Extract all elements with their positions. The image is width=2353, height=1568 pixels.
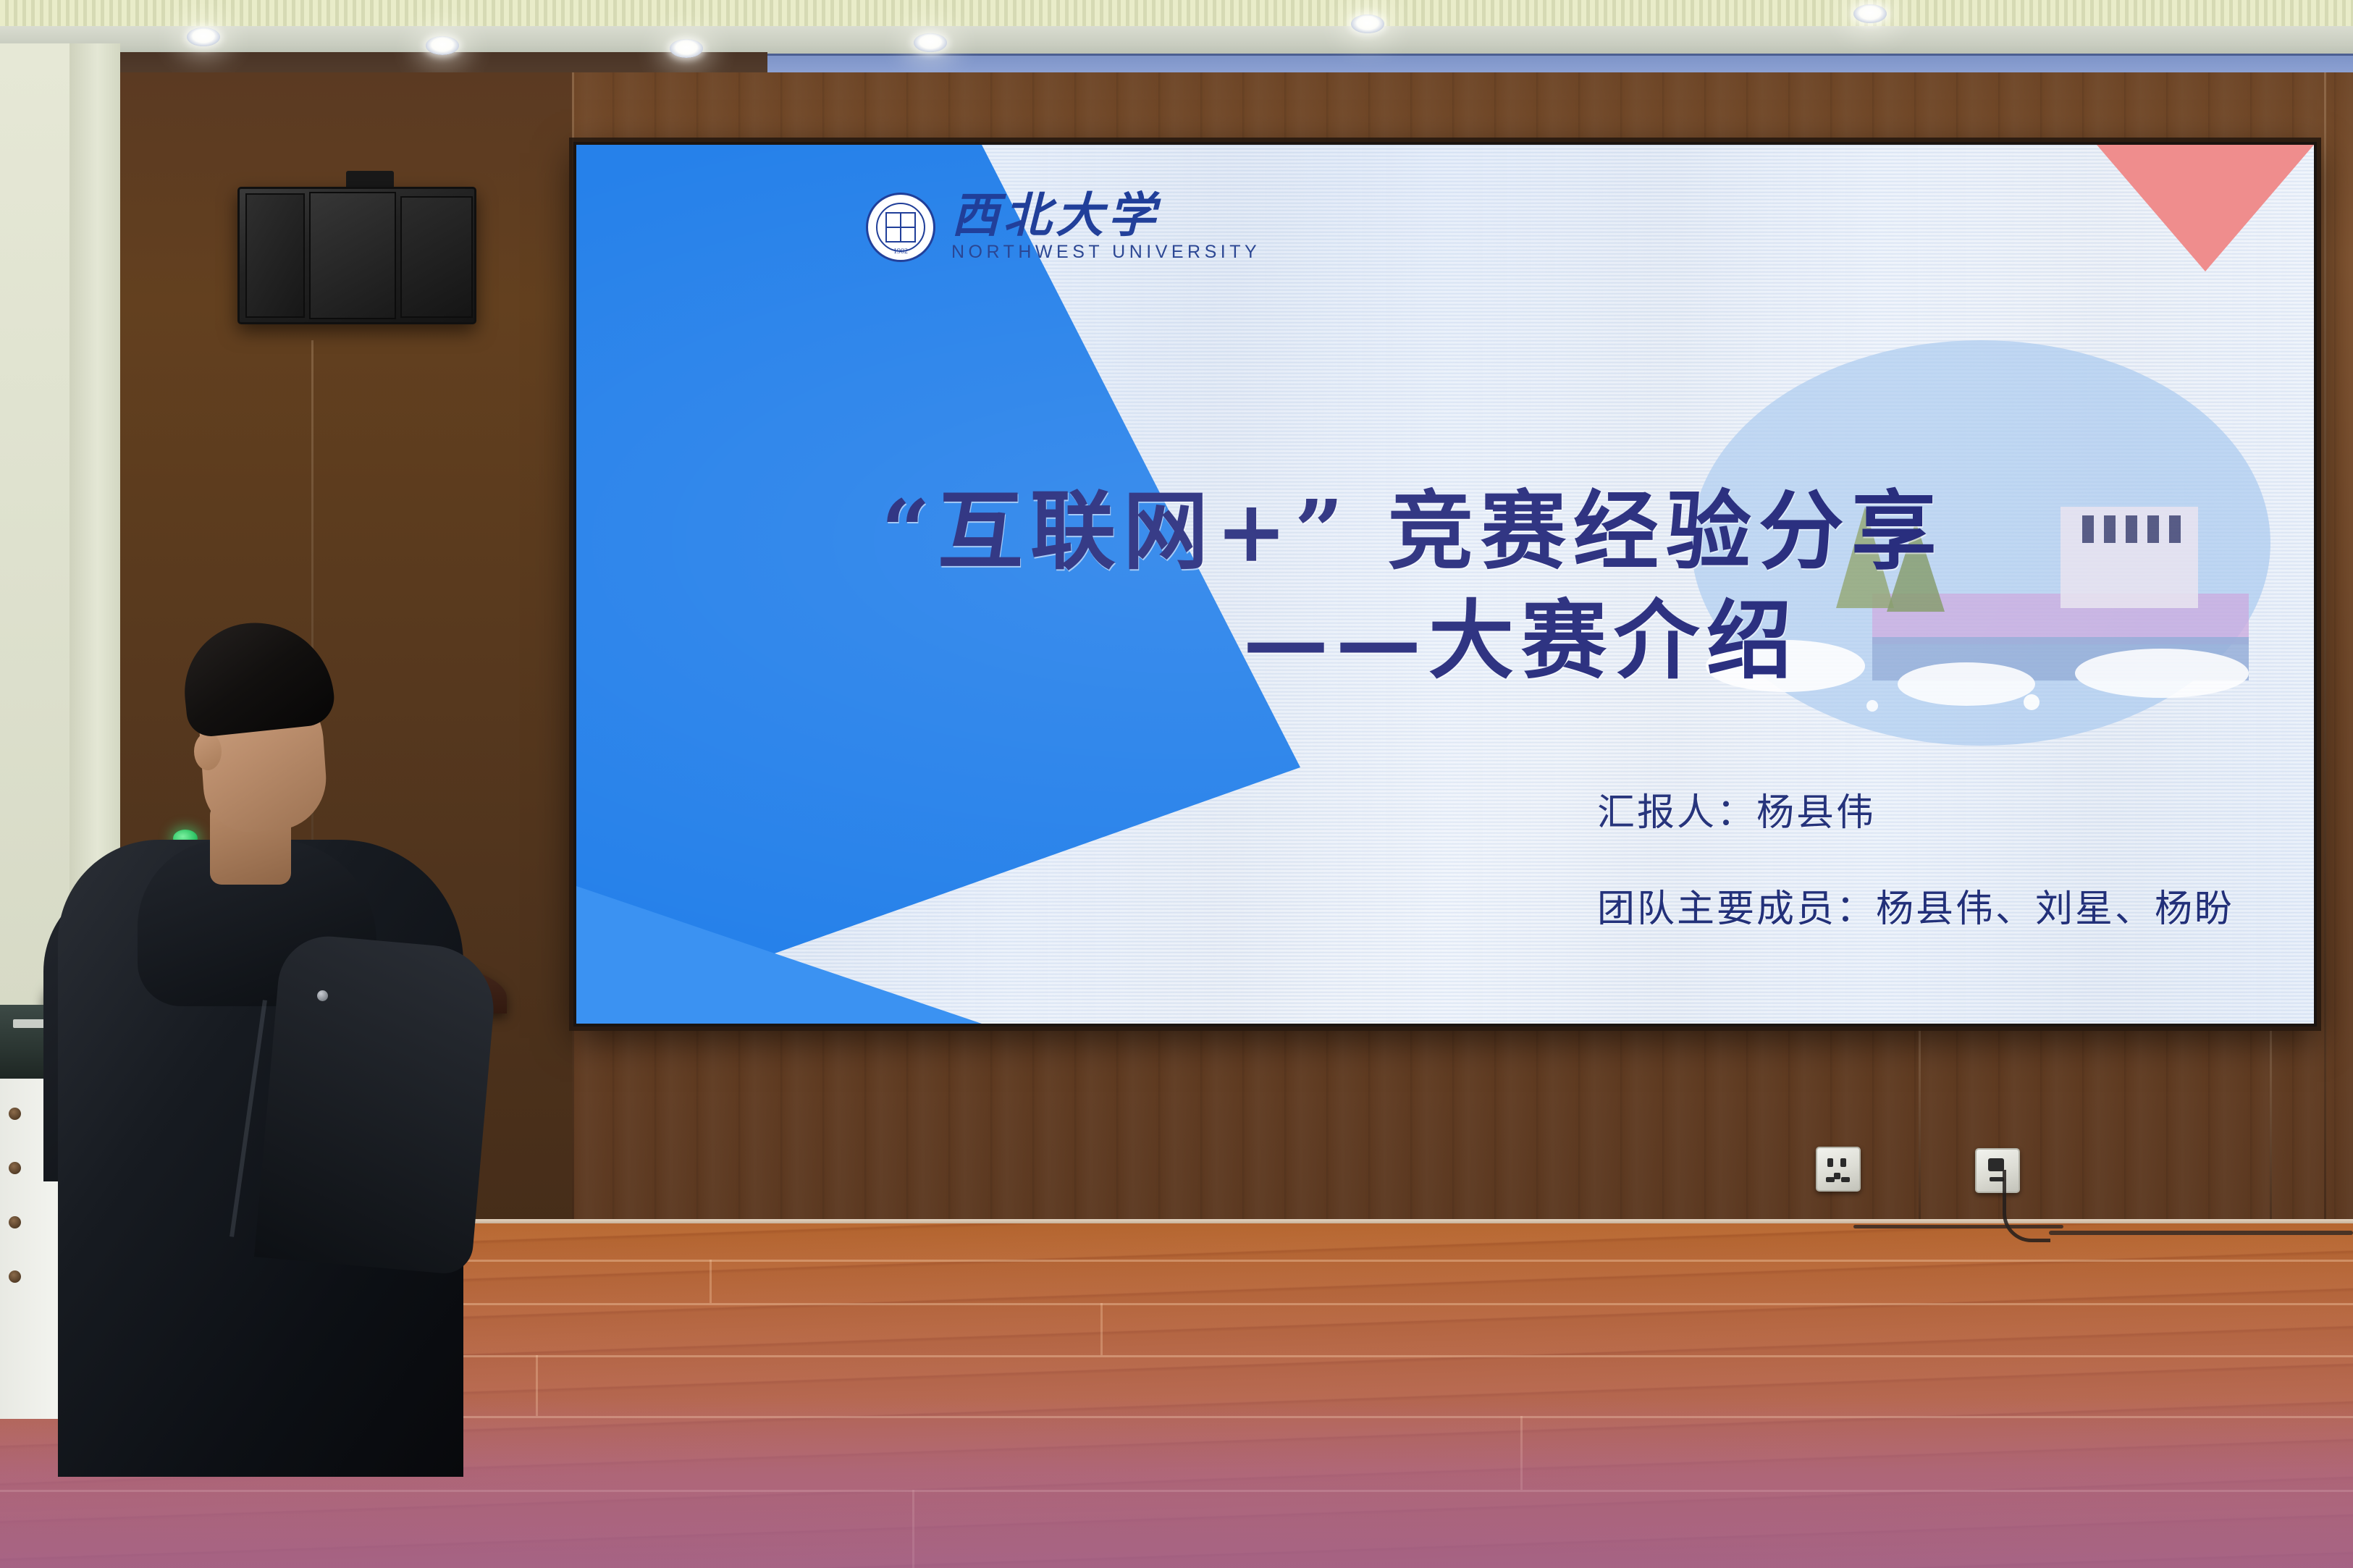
outlet-connector bbox=[1988, 1158, 2004, 1171]
university-name-en: NORTHWEST UNIVERSITY bbox=[951, 242, 1260, 263]
wood-panel-seam bbox=[1919, 1028, 1921, 1231]
led-screen-frame: 1902 西北大学 NORTHWEST UNIVERSITY “互联网+” 竞赛… bbox=[573, 142, 2317, 1027]
speaker-horn-right: JBL bbox=[400, 196, 473, 318]
ceiling-downlight bbox=[187, 28, 220, 46]
cabinet-hole bbox=[9, 1270, 21, 1283]
lecture-hall-scene: JBL JBL bbox=[0, 0, 2353, 1568]
cabinet-hole bbox=[9, 1108, 21, 1120]
ceiling-downlight bbox=[1351, 14, 1384, 33]
outlet-slot bbox=[1990, 1177, 2004, 1181]
outlet-slot bbox=[1827, 1158, 1833, 1167]
slide-blue-sliver-shape bbox=[576, 857, 982, 1024]
floor-plank-seam bbox=[0, 1490, 2353, 1492]
ceiling-downlight bbox=[1853, 4, 1887, 23]
person-hair bbox=[178, 615, 337, 739]
person-right-arm bbox=[254, 932, 499, 1276]
floor-plank-vseam bbox=[1100, 1303, 1103, 1355]
speaker-horn-left bbox=[245, 193, 305, 318]
power-cable bbox=[2003, 1170, 2050, 1242]
jbl-speaker-box: JBL JBL bbox=[237, 187, 476, 324]
floor-cable-run bbox=[2049, 1231, 2353, 1235]
slide-title-line2: ——大赛介绍 bbox=[576, 587, 2249, 694]
wood-panel-seam bbox=[2324, 72, 2326, 1231]
slide-presenter-block: 汇报人：杨县伟 团队主要成员：杨县伟、刘星、杨盼 bbox=[1597, 782, 2234, 932]
floor-plank-vseam bbox=[710, 1260, 712, 1303]
ceiling-downlight bbox=[914, 33, 947, 52]
floor-plank-vseam bbox=[1520, 1416, 1523, 1490]
presenter-person bbox=[29, 623, 492, 1477]
university-logo: 1902 西北大学 NORTHWEST UNIVERSITY bbox=[866, 191, 1260, 263]
team-members: 团队主要成员：杨县伟、刘星、杨盼 bbox=[1597, 878, 2234, 932]
person-jacket-snap bbox=[317, 990, 328, 1001]
floor-plank-vseam bbox=[536, 1355, 538, 1416]
speaker-driver-center: JBL bbox=[309, 192, 396, 319]
slide-title-block: “互联网+” 竞赛经验分享 ——大赛介绍 bbox=[576, 485, 2314, 694]
wood-panel-seam bbox=[2270, 1028, 2272, 1231]
person-ear bbox=[194, 733, 222, 770]
floor-plank-vseam bbox=[912, 1490, 914, 1568]
seal-inner-cross bbox=[885, 212, 916, 243]
power-outlet[interactable] bbox=[1816, 1147, 1861, 1192]
university-seal-icon: 1902 bbox=[866, 193, 935, 262]
logo-text-block: 西北大学 NORTHWEST UNIVERSITY bbox=[951, 191, 1260, 263]
university-name-cn: 西北大学 bbox=[951, 191, 1260, 239]
cabinet-hole bbox=[9, 1216, 21, 1228]
ceiling-downlight bbox=[670, 39, 703, 58]
slide-title-line1: “互联网+” 竞赛经验分享 bbox=[576, 485, 2249, 577]
outlet-slot bbox=[1840, 1158, 1846, 1167]
ceiling-downlight bbox=[426, 36, 459, 55]
cabinet-hole bbox=[9, 1162, 21, 1174]
seal-year: 1902 bbox=[868, 248, 933, 256]
floor-cable-run bbox=[1853, 1225, 2063, 1228]
outlet-slot bbox=[1841, 1177, 1850, 1182]
presenter-name: 汇报人：杨县伟 bbox=[1597, 782, 2234, 836]
outlet-slot bbox=[1834, 1173, 1840, 1179]
presentation-slide[interactable]: 1902 西北大学 NORTHWEST UNIVERSITY “互联网+” 竞赛… bbox=[576, 145, 2314, 1024]
outlet-slot bbox=[1826, 1177, 1835, 1182]
ceiling-slats bbox=[0, 0, 2353, 29]
slide-red-corner-triangle bbox=[2097, 145, 2314, 271]
